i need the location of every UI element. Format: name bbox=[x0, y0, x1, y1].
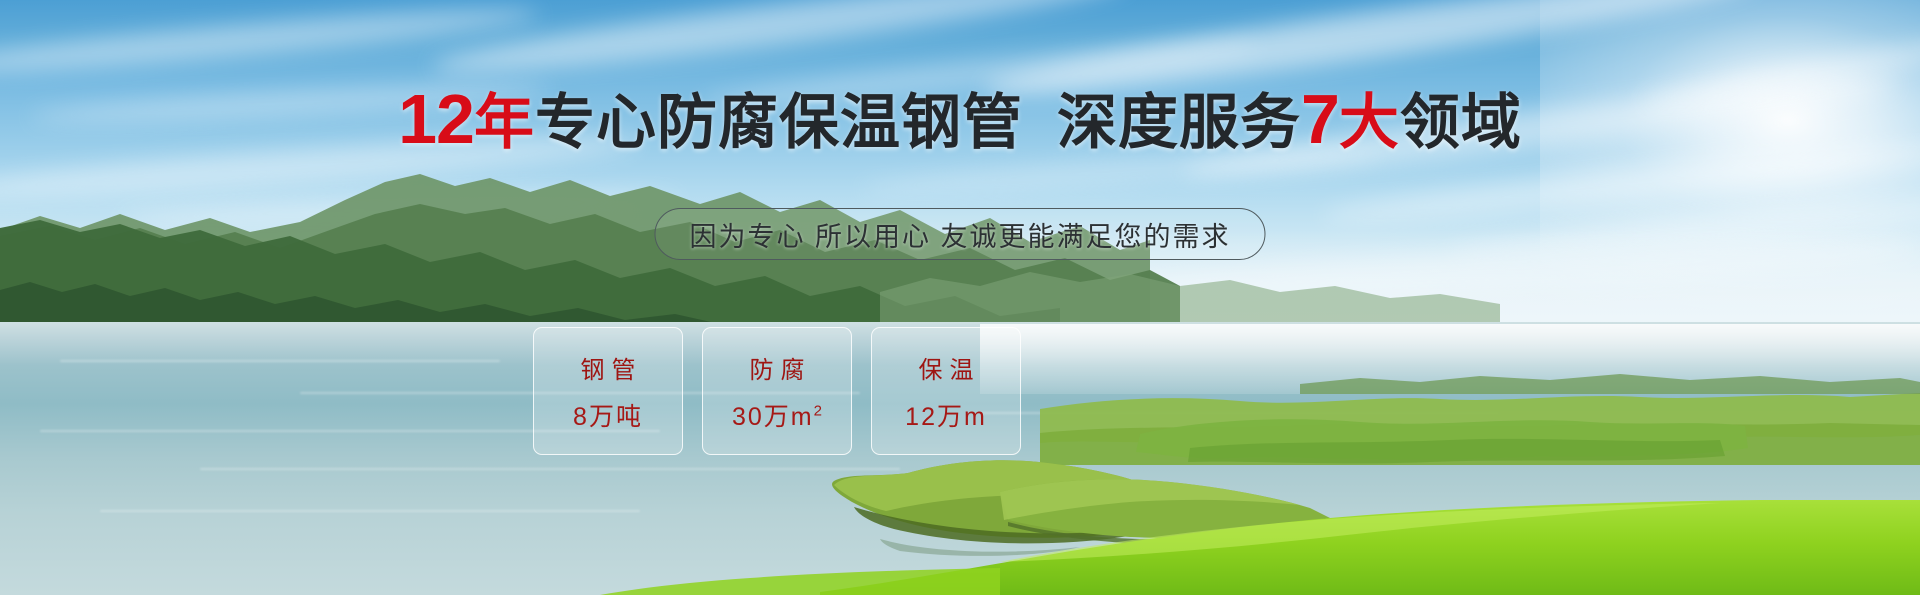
headline-main: 专心防腐保温钢管 bbox=[535, 89, 1023, 156]
stat-card-anticorrosion[interactable]: 防腐 30万m2 bbox=[702, 327, 852, 455]
stat-card-label: 钢管 bbox=[574, 350, 643, 385]
stat-card-value: 8万吨 bbox=[573, 397, 643, 433]
subtitle-pill: 因为专心 所以用心 友诚更能满足您的需求 bbox=[654, 208, 1265, 260]
stat-cards: 钢管 8万吨 防腐 30万m2 保温 12万m bbox=[533, 327, 1021, 455]
stat-card-value-main: 30万m bbox=[732, 403, 814, 431]
headline-fields-tail: 领域 bbox=[1400, 89, 1522, 156]
headline-years-unit: 年 bbox=[474, 89, 535, 156]
sky-background bbox=[0, 0, 1920, 330]
headline-years-number: 12 bbox=[398, 80, 474, 158]
headline: 12年专心防腐保温钢管深度服务7大领域 bbox=[0, 88, 1920, 154]
stat-card-label: 防腐 bbox=[743, 350, 812, 385]
stat-card-value: 12万m bbox=[905, 397, 987, 433]
headline-fields-unit: 大 bbox=[1339, 89, 1400, 156]
headline-fields-number: 7 bbox=[1301, 80, 1339, 158]
stat-card-steel-pipe[interactable]: 钢管 8万吨 bbox=[533, 327, 683, 455]
stat-card-value-main: 8万吨 bbox=[573, 403, 643, 431]
subtitle-text: 因为专心 所以用心 友诚更能满足您的需求 bbox=[689, 215, 1230, 254]
stat-card-label: 保温 bbox=[912, 350, 981, 385]
stat-card-value-superscript: 2 bbox=[814, 402, 822, 419]
headline-service: 深度服务 bbox=[1057, 89, 1301, 156]
stat-card-value-main: 12万m bbox=[905, 403, 987, 431]
stat-card-insulation[interactable]: 保温 12万m bbox=[871, 327, 1021, 455]
stat-card-value: 30万m2 bbox=[732, 397, 822, 433]
promo-banner: 12年专心防腐保温钢管深度服务7大领域 因为专心 所以用心 友诚更能满足您的需求… bbox=[0, 0, 1920, 595]
